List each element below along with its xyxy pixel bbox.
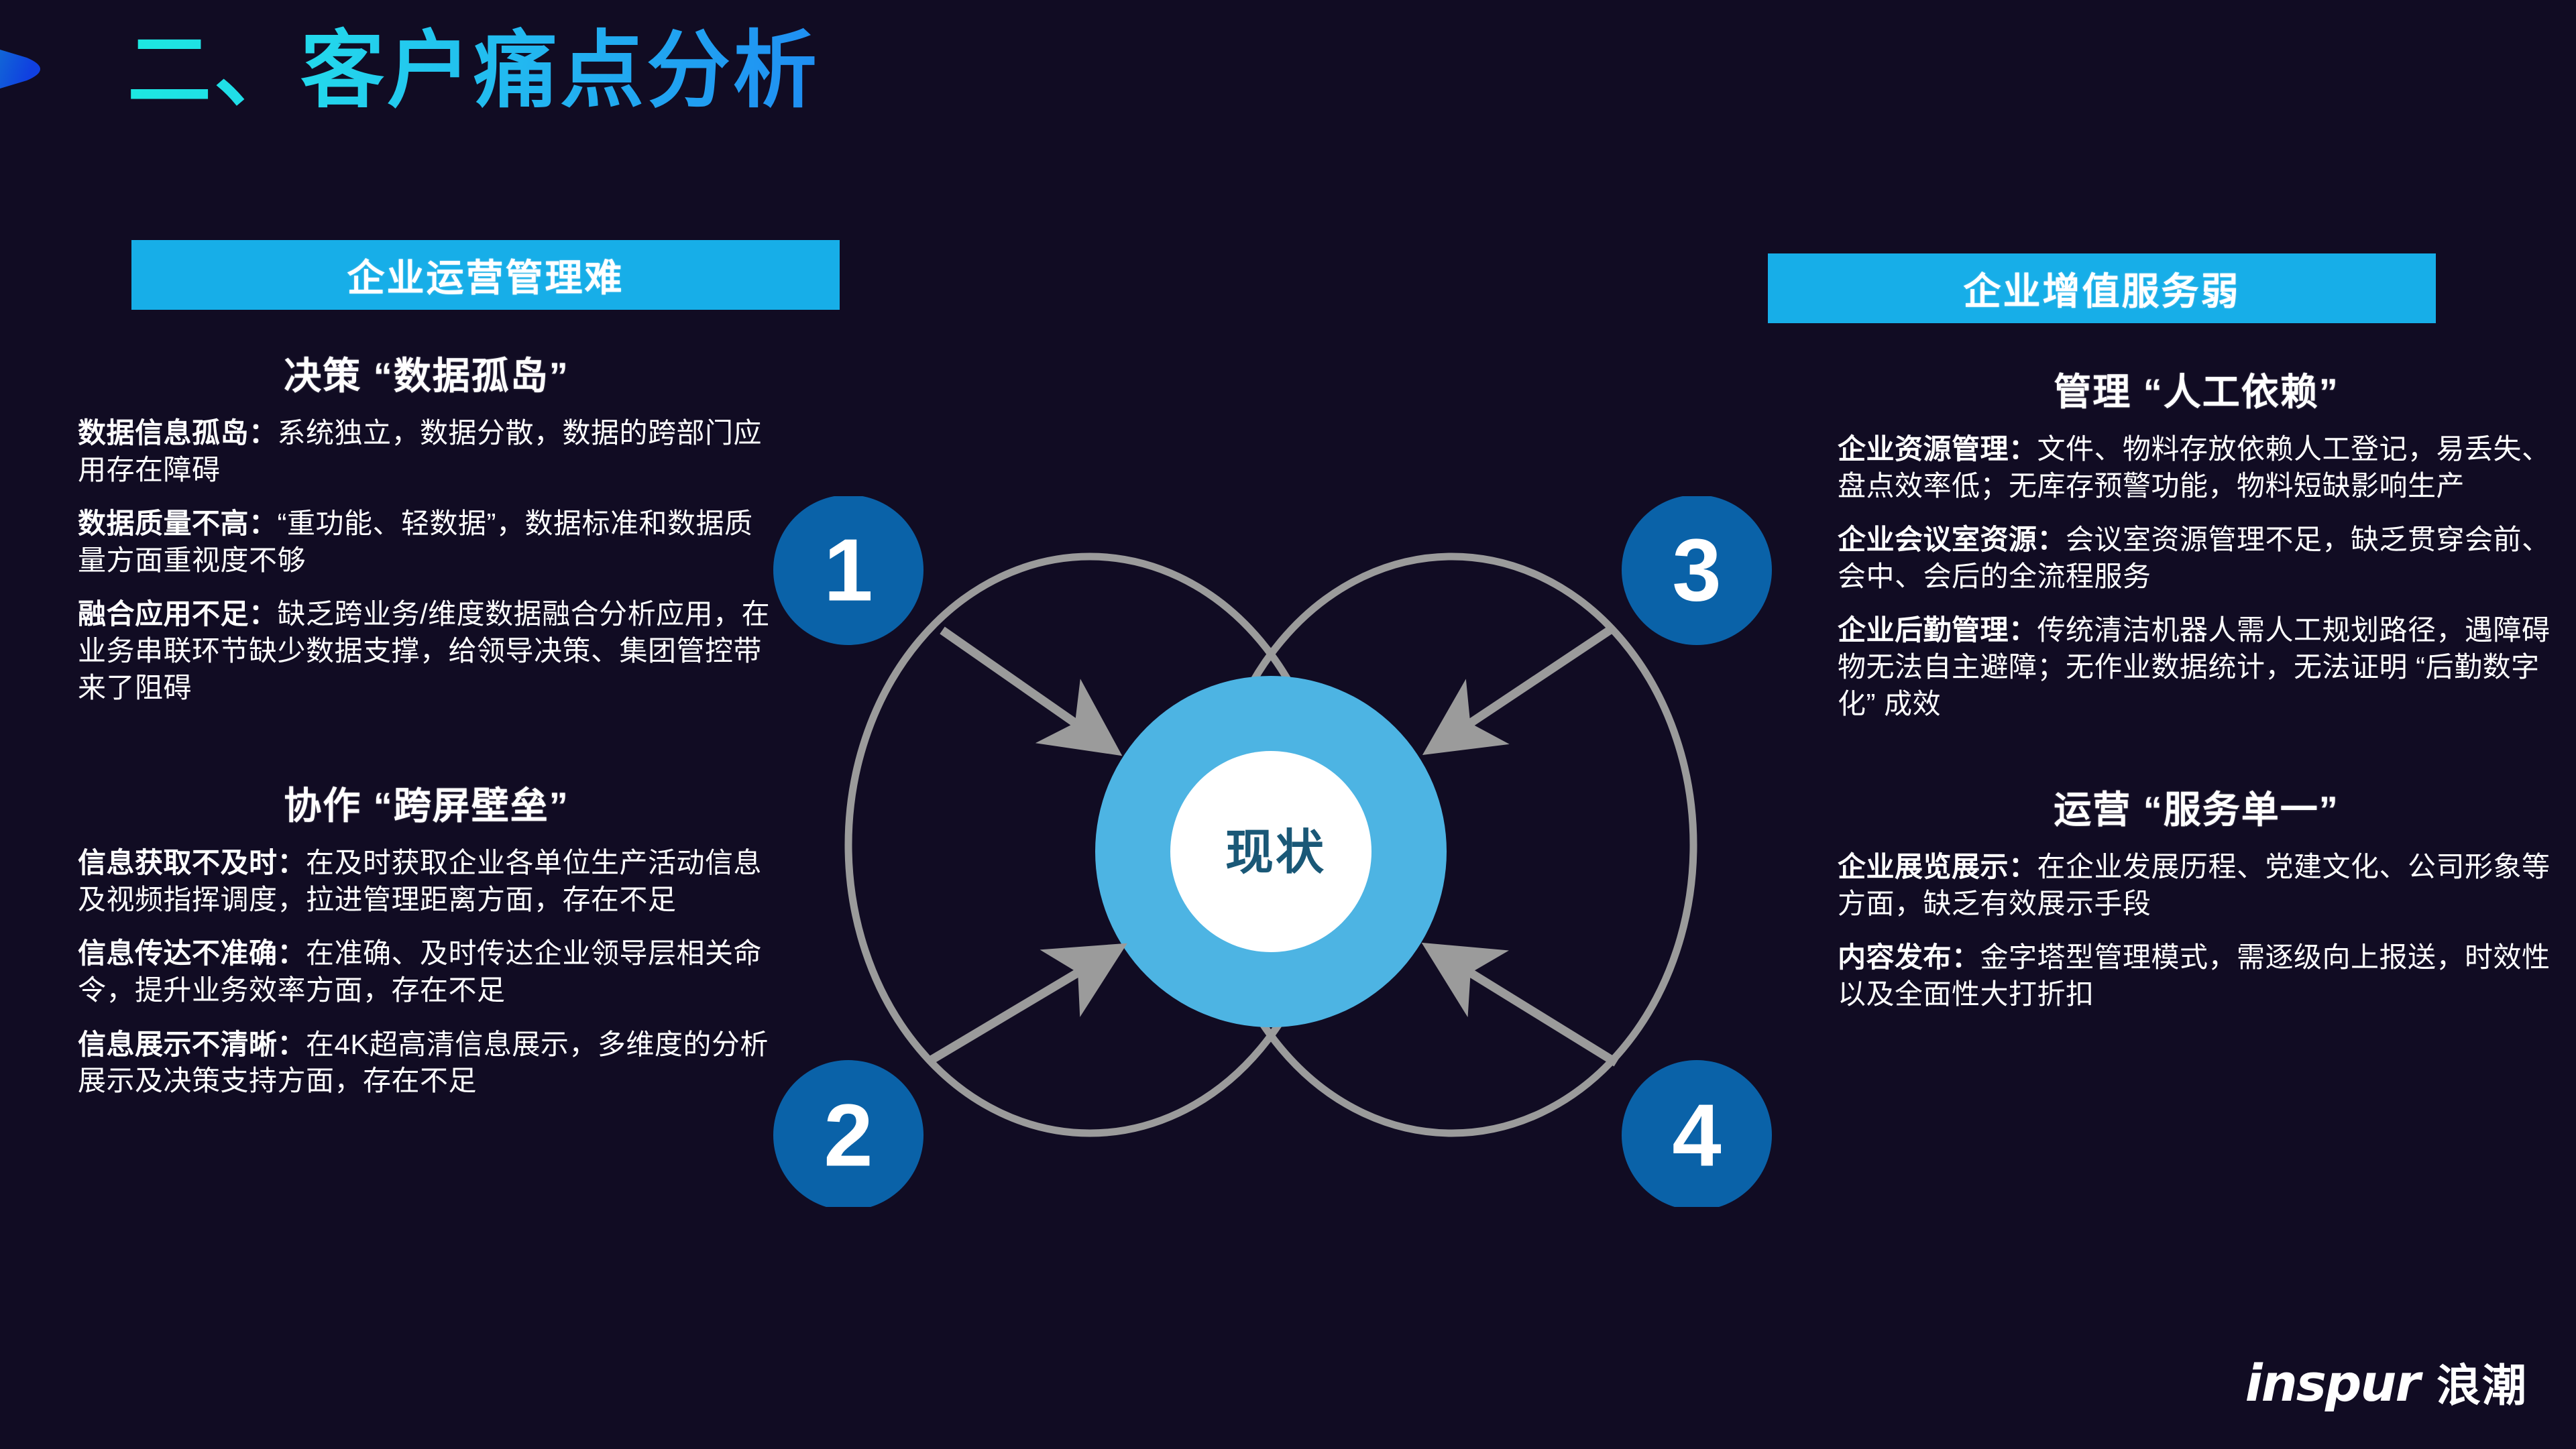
right-column: 管理 “人工依赖” 企业资源管理：文件、物料存放依赖人工登记，易丢失、盘点效率低… <box>1838 362 2555 1013</box>
right-item-2: 企业会议室资源：会议室资源管理不足，缺乏贯穿会前、会中、会后的全流程服务 <box>1838 522 2555 595</box>
svg-text:3: 3 <box>1672 521 1721 620</box>
right-item-3-lead: 企业后勤管理： <box>1838 614 2037 646</box>
section-banner-left: 企业运营管理难 <box>131 240 840 310</box>
right-item-4-lead: 企业展览展示： <box>1838 851 2037 882</box>
left-column-spacer <box>78 723 775 776</box>
right-item-5-lead: 内容发布： <box>1838 941 1980 973</box>
corner-chevron-decoration <box>0 12 121 126</box>
right-column-spacer <box>1838 740 2555 780</box>
node-1[interactable]: 1 <box>773 496 923 645</box>
left-item-6-lead: 信息展示不清晰： <box>78 1029 306 1060</box>
left-item-3: 融合应用不足：缺乏跨业务/维度数据融合分析应用，在业务串联环节缺少数据支撑，给领… <box>78 596 775 706</box>
left-item-4-lead: 信息获取不及时： <box>78 847 306 878</box>
right-item-1: 企业资源管理：文件、物料存放依赖人工登记，易丢失、盘点效率低；无库存预警功能，物… <box>1838 431 2555 504</box>
left-item-2-lead: 数据质量不高： <box>78 508 278 539</box>
left-item-4: 信息获取不及时：在及时获取企业各单位生产活动信息及视频指挥调度，拉进管理距离方面… <box>78 845 775 918</box>
left-group-2-heading: 协作 “跨屏壁垒” <box>78 776 775 830</box>
page-title: 二、客户痛点分析 <box>127 23 820 119</box>
node-4[interactable]: 4 <box>1622 1060 1772 1207</box>
left-item-2: 数据质量不高：“重功能、轻数据”，数据标准和数据质量方面重视度不够 <box>78 506 775 579</box>
arrow-from-2 <box>932 966 1090 1059</box>
right-item-4: 企业展览展示：在企业发展历程、党建文化、公司形象等方面，缺乏有效展示手段 <box>1838 849 2555 922</box>
hub-core <box>1170 751 1371 952</box>
slide-root: 二、客户痛点分析 企业运营管理难 企业增值服务弱 决策 “数据孤岛” 数据信息孤… <box>0 0 2576 1449</box>
right-group-1-heading: 管理 “人工依赖” <box>1838 362 2555 416</box>
logo-text-cn: 浪潮 <box>2437 1350 2528 1414</box>
left-column: 决策 “数据孤岛” 数据信息孤岛：系统独立，数据分散，数据的跨部门应用存在障碍 … <box>78 346 775 1100</box>
svg-text:2: 2 <box>824 1086 873 1185</box>
section-banner-right: 企业增值服务弱 <box>1768 253 2436 323</box>
left-item-3-lead: 融合应用不足： <box>78 598 278 630</box>
logo-text-en: inspur <box>2245 1353 2419 1413</box>
center-diagram: 1 2 3 4 <box>724 496 1824 1207</box>
svg-text:1: 1 <box>824 521 873 620</box>
node-3[interactable]: 3 <box>1622 496 1772 645</box>
svg-text:4: 4 <box>1672 1086 1721 1185</box>
right-item-1-lead: 企业资源管理： <box>1838 433 2037 465</box>
right-item-5: 内容发布：金字塔型管理模式，需逐级向上报送，时效性以及全面性大打折扣 <box>1838 939 2555 1012</box>
inspur-logo: inspur 浪潮 <box>2245 1350 2528 1414</box>
left-group-1-heading: 决策 “数据孤岛” <box>78 346 775 400</box>
left-item-1-lead: 数据信息孤岛： <box>78 417 278 449</box>
left-item-1: 数据信息孤岛：系统独立，数据分散，数据的跨部门应用存在障碍 <box>78 415 775 488</box>
left-item-6: 信息展示不清晰：在4K超高清信息展示，多维度的分析展示及决策支持方面，存在不足 <box>78 1027 775 1100</box>
right-item-3: 企业后勤管理：传统清洁机器人需人工规划路径，遇障碍物无法自主避障；无作业数据统计… <box>1838 612 2555 722</box>
left-item-5-lead: 信息传达不准确： <box>78 937 306 969</box>
arrow-from-1 <box>942 630 1086 731</box>
right-group-2-heading: 运营 “服务单一” <box>1838 780 2555 834</box>
arrow-from-4 <box>1459 966 1616 1063</box>
left-item-5: 信息传达不准确：在准确、及时传达企业领导层相关命令，提升业务效率方面，存在不足 <box>78 935 775 1008</box>
right-item-2-lead: 企业会议室资源： <box>1838 524 2066 555</box>
arrow-from-3 <box>1459 630 1610 731</box>
node-2[interactable]: 2 <box>773 1060 923 1207</box>
